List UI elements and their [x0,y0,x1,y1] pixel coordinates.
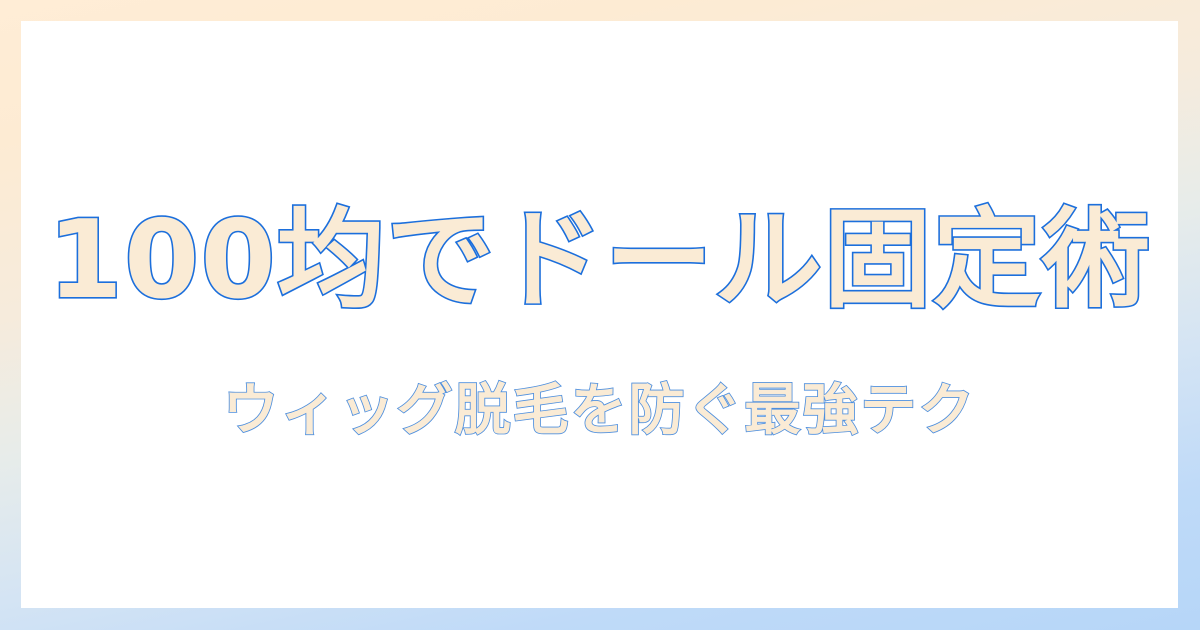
page-subtitle: ウィッグ脱毛を防ぐ最強テク [223,380,976,442]
poster-text-block: 100均でドール固定術 ウィッグ脱毛を防ぐ最強テク [21,21,1178,608]
poster-frame: 100均でドール固定術 ウィッグ脱毛を防ぐ最強テク [0,0,1200,630]
poster-card: 100均でドール固定術 ウィッグ脱毛を防ぐ最強テク [21,21,1178,608]
page-title: 100均でドール固定術 [48,203,1152,320]
